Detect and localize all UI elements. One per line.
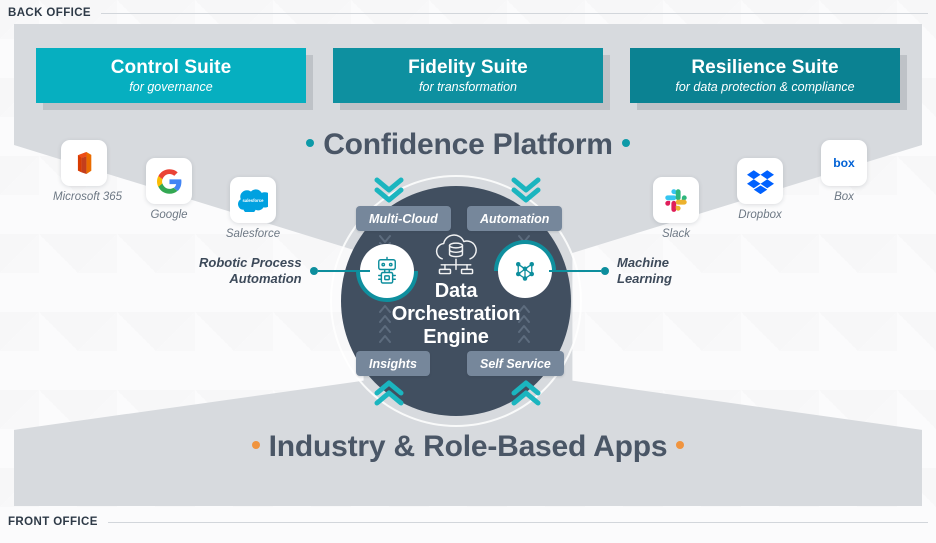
app-microsoft-365[interactable]: Microsoft 365 — [53, 140, 115, 203]
app-dropbox[interactable]: Dropbox — [729, 158, 791, 221]
back-office-label: BACK OFFICE — [8, 7, 91, 19]
app-tile — [653, 177, 699, 223]
bullet-dot-icon — [676, 441, 684, 449]
suite-subtitle: for governance — [129, 80, 212, 94]
ml-label: Machine Learning — [617, 255, 672, 288]
suite-title: Resilience Suite — [691, 57, 838, 78]
suite-card-resilience[interactable]: Resilience Suite for data protection & c… — [630, 48, 900, 103]
bullet-dot-icon — [306, 139, 314, 147]
svg-text:box: box — [833, 156, 855, 170]
core-title-line-3: Engine — [341, 326, 571, 349]
app-google[interactable]: Google — [138, 158, 200, 221]
connector-line — [549, 270, 601, 272]
slack-icon — [663, 187, 689, 213]
suite-card-fidelity[interactable]: Fidelity Suite for transformation — [333, 48, 603, 103]
rpa-label-line-2: Automation — [199, 271, 302, 287]
ml-label-line-2: Learning — [617, 271, 672, 287]
industry-apps-heading: Industry & Role-Based Apps — [0, 430, 936, 464]
pill-label: Multi-Cloud — [369, 212, 438, 226]
pill-label: Self Service — [480, 357, 551, 371]
app-label: Box — [813, 191, 875, 203]
ml-label-line-1: Machine — [617, 255, 672, 271]
app-tile — [737, 158, 783, 204]
pill-automation[interactable]: Automation — [467, 206, 562, 231]
back-office-rail: BACK OFFICE — [0, 7, 936, 19]
diagram-canvas: BACK OFFICE Control Suite for governance… — [0, 0, 936, 543]
pill-label: Insights — [369, 357, 417, 371]
connector-dot-icon — [310, 267, 318, 275]
ai-chip-icon — [372, 256, 402, 286]
rpa-label: Robotic Process Automation — [199, 255, 302, 288]
app-salesforce[interactable]: salesforce Salesforce — [222, 177, 284, 240]
chevron-up-icon — [374, 379, 404, 407]
rpa-connector: Robotic Process Automation — [199, 255, 370, 288]
suite-row: Control Suite for governance Fidelity Su… — [14, 48, 922, 103]
front-office-label: FRONT OFFICE — [8, 516, 98, 528]
bullet-dot-icon — [622, 139, 630, 147]
app-slack[interactable]: Slack — [645, 177, 707, 240]
cloud-database-icon — [428, 234, 484, 280]
chevron-track-up-icon — [377, 303, 393, 349]
connector-line — [318, 270, 370, 272]
dropbox-icon — [747, 169, 774, 194]
app-tile: box — [821, 140, 867, 186]
badge-circle — [498, 244, 552, 298]
app-label: Microsoft 365 — [53, 191, 115, 203]
microsoft-365-icon — [71, 150, 97, 176]
app-tile — [146, 158, 192, 204]
pill-label: Automation — [480, 212, 549, 226]
bullet-dot-icon — [252, 441, 260, 449]
chevron-down-icon — [374, 176, 404, 204]
pill-self-service[interactable]: Self Service — [467, 351, 564, 376]
ml-connector: Machine Learning — [549, 255, 672, 288]
app-label: Google — [138, 209, 200, 221]
rail-divider-top — [101, 13, 928, 14]
chevron-down-icon — [511, 176, 541, 204]
box-icon: box — [827, 153, 861, 173]
app-label: Slack — [645, 228, 707, 240]
app-box[interactable]: box Box — [813, 140, 875, 203]
industry-apps-text: Industry & Role-Based Apps — [269, 430, 668, 463]
svg-text:salesforce: salesforce — [242, 198, 264, 203]
suite-subtitle: for transformation — [419, 80, 517, 94]
google-icon — [157, 169, 182, 194]
suite-title: Control Suite — [111, 57, 232, 78]
core-title-line-2: Orchestration — [341, 303, 571, 326]
suite-subtitle: for data protection & compliance — [675, 80, 854, 94]
neural-network-icon — [510, 256, 540, 286]
app-label: Dropbox — [729, 209, 791, 221]
app-tile — [61, 140, 107, 186]
chevron-up-icon — [511, 379, 541, 407]
confidence-platform-heading: Confidence Platform — [0, 128, 936, 162]
front-office-rail: FRONT OFFICE — [0, 516, 936, 528]
confidence-platform-text: Confidence Platform — [323, 128, 613, 161]
ml-badge[interactable] — [498, 244, 552, 298]
app-label: Salesforce — [222, 228, 284, 240]
suite-title: Fidelity Suite — [408, 57, 528, 78]
salesforce-icon: salesforce — [238, 188, 268, 212]
connector-dot-icon — [601, 267, 609, 275]
suite-card-control[interactable]: Control Suite for governance — [36, 48, 306, 103]
rail-divider-bottom — [108, 522, 928, 523]
rpa-label-line-1: Robotic Process — [199, 255, 302, 271]
pill-multi-cloud[interactable]: Multi-Cloud — [356, 206, 451, 231]
pill-insights[interactable]: Insights — [356, 351, 430, 376]
app-tile: salesforce — [230, 177, 276, 223]
chevron-track-up-icon — [516, 303, 532, 349]
